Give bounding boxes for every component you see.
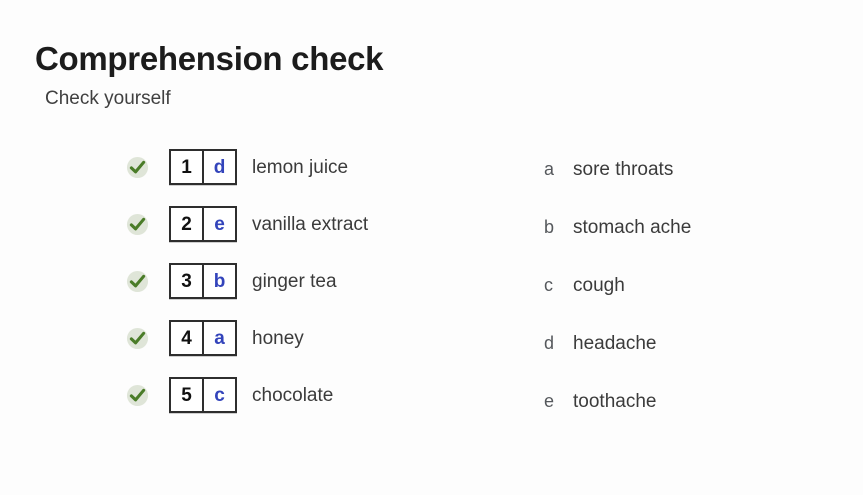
item-label: honey bbox=[252, 329, 304, 348]
option-row[interactable]: etoothache bbox=[544, 389, 656, 413]
option-letter: b bbox=[544, 218, 573, 236]
match-pair-box[interactable]: 5c bbox=[169, 377, 237, 413]
answer-row[interactable]: 2evanilla extract bbox=[126, 205, 368, 243]
answer-row[interactable]: 4ahoney bbox=[126, 319, 304, 357]
item-number: 3 bbox=[171, 265, 204, 297]
item-number: 5 bbox=[171, 379, 204, 411]
answer-row[interactable]: 5cchocolate bbox=[126, 376, 333, 414]
item-label: chocolate bbox=[252, 386, 333, 405]
option-text: stomach ache bbox=[573, 218, 691, 237]
match-pair-box[interactable]: 4a bbox=[169, 320, 237, 356]
option-text: headache bbox=[573, 334, 656, 353]
item-answer-letter: a bbox=[204, 322, 235, 354]
item-number: 1 bbox=[171, 151, 204, 183]
item-answer-letter: b bbox=[204, 265, 235, 297]
answer-row[interactable]: 1dlemon juice bbox=[126, 148, 348, 186]
option-row[interactable]: bstomach ache bbox=[544, 215, 691, 239]
item-label: vanilla extract bbox=[252, 215, 368, 234]
match-pair-box[interactable]: 3b bbox=[169, 263, 237, 299]
item-label: ginger tea bbox=[252, 272, 337, 291]
check-circle-icon bbox=[126, 327, 149, 350]
match-pair-box[interactable]: 2e bbox=[169, 206, 237, 242]
match-pair-box[interactable]: 1d bbox=[169, 149, 237, 185]
answer-row[interactable]: 3bginger tea bbox=[126, 262, 337, 300]
option-text: cough bbox=[573, 276, 625, 295]
option-text: toothache bbox=[573, 392, 656, 411]
option-text: sore throats bbox=[573, 160, 673, 179]
option-row[interactable]: dheadache bbox=[544, 331, 656, 355]
page-title: Comprehension check bbox=[35, 42, 383, 75]
page-subtitle: Check yourself bbox=[45, 89, 171, 108]
item-number: 2 bbox=[171, 208, 204, 240]
item-label: lemon juice bbox=[252, 158, 348, 177]
item-answer-letter: e bbox=[204, 208, 235, 240]
option-row[interactable]: ccough bbox=[544, 273, 625, 297]
option-letter: c bbox=[544, 276, 573, 294]
item-number: 4 bbox=[171, 322, 204, 354]
check-circle-icon bbox=[126, 213, 149, 236]
option-letter: d bbox=[544, 334, 573, 352]
option-letter: a bbox=[544, 160, 573, 178]
check-circle-icon bbox=[126, 384, 149, 407]
item-answer-letter: d bbox=[204, 151, 235, 183]
option-letter: e bbox=[544, 392, 573, 410]
slide-canvas: Comprehension check Check yourself 1dlem… bbox=[0, 0, 863, 495]
item-answer-letter: c bbox=[204, 379, 235, 411]
check-circle-icon bbox=[126, 156, 149, 179]
check-circle-icon bbox=[126, 270, 149, 293]
option-row[interactable]: asore throats bbox=[544, 157, 673, 181]
